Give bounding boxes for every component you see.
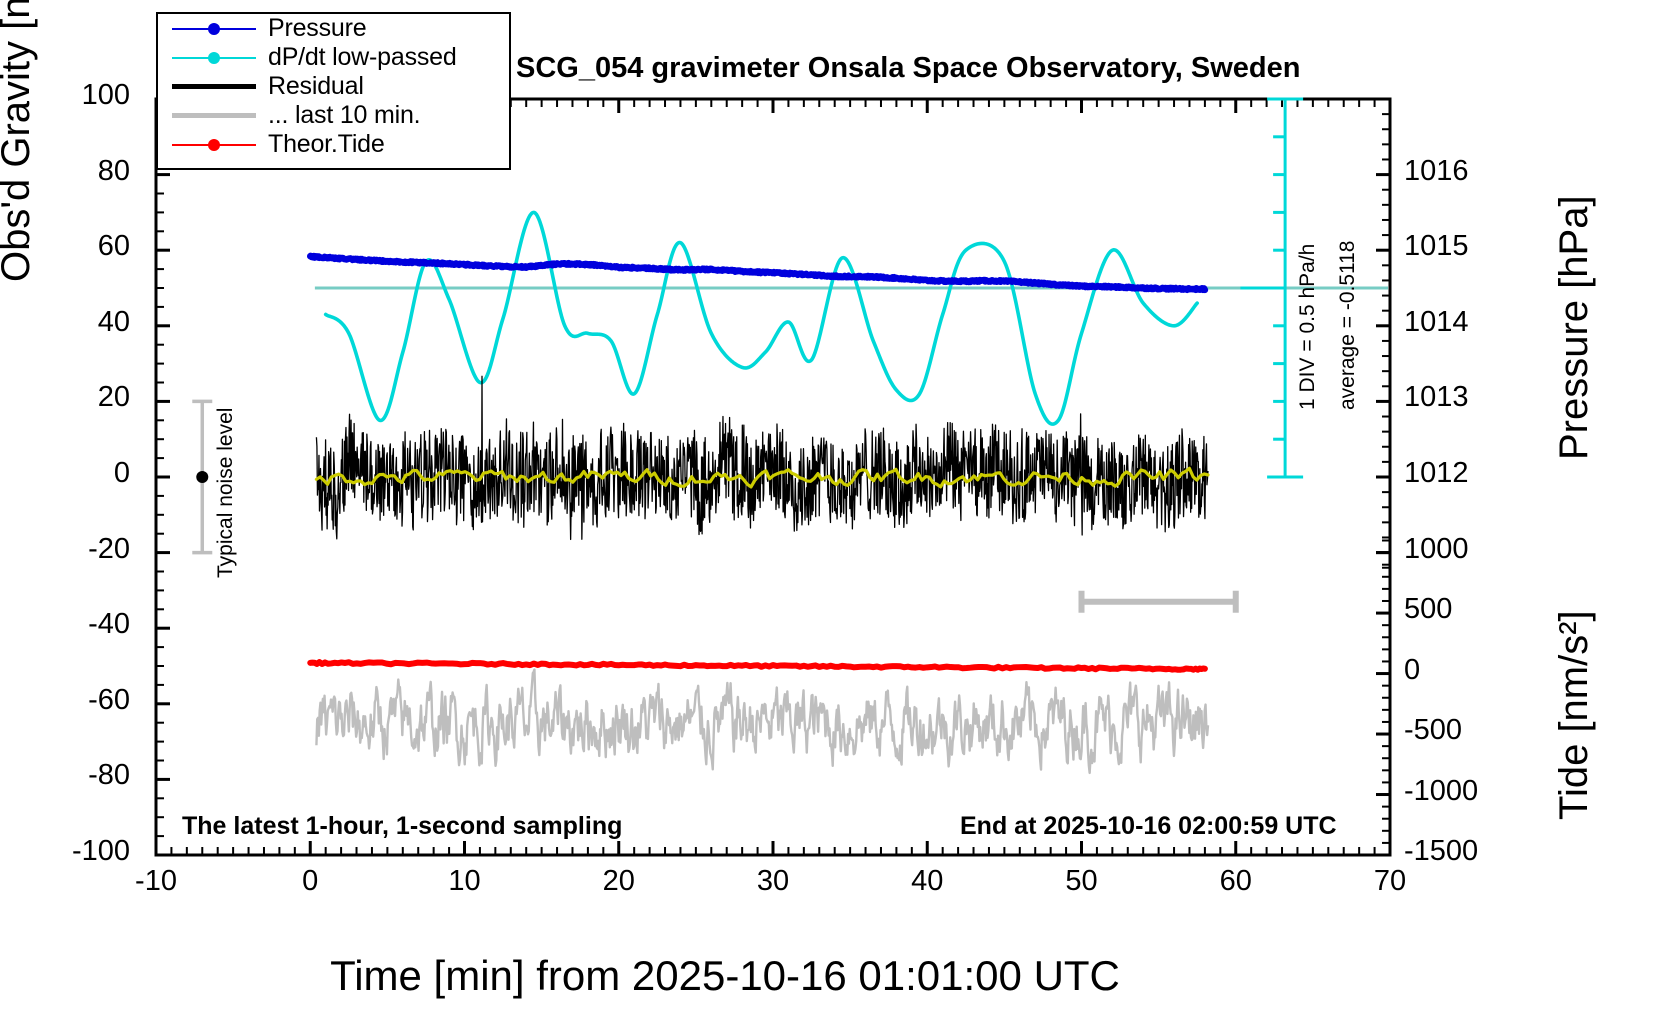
y-axis-right-pressure-tick-label: 1015: [1404, 230, 1469, 263]
y-axis-right-pressure-title: Pressure [hPa]: [1552, 195, 1597, 460]
dpdt-division-label: 1 DIV = 0.5 hPa/h: [1296, 244, 1320, 410]
y-axis-left-tick-label: 20: [20, 381, 130, 414]
legend-swatch-icon: [172, 48, 256, 68]
y-axis-left-tick-label: 100: [20, 79, 130, 112]
legend-swatch-icon: [172, 106, 256, 126]
residual-curve: [316, 376, 1208, 539]
x-axis-tick-label: 30: [733, 865, 813, 898]
y-axis-left-tick-label: 40: [20, 306, 130, 339]
x-axis-tick-label: 50: [1042, 865, 1122, 898]
legend-item-dp-dt-low-passed: dP/dt low-passed: [172, 43, 509, 72]
legend-swatch-icon: [172, 19, 256, 39]
legend-marker-icon: [208, 23, 220, 35]
y-axis-left-tick-label: -80: [20, 759, 130, 792]
y-axis-right-tide-tick-label: -1000: [1404, 775, 1478, 808]
legend-item-label: ... last 10 min.: [268, 101, 420, 130]
legend-marker-icon: [208, 52, 220, 64]
plot-root: SCG_054 gravimeter Onsala Space Observat…: [0, 0, 1660, 1020]
noise-center-dot: [196, 471, 208, 483]
x-axis-title: Time [min] from 2025-10-16 01:01:00 UTC: [0, 952, 1450, 1000]
y-axis-left-tick-label: 0: [20, 457, 130, 490]
y-axis-right-pressure-tick-label: 1014: [1404, 306, 1469, 339]
legend-line-icon: [172, 84, 256, 89]
theoretical-tide-curve: [310, 662, 1205, 670]
y-axis-left-tick-label: -60: [20, 684, 130, 717]
y-axis-left-tick-label: -40: [20, 608, 130, 641]
last10min-curve: [316, 670, 1208, 773]
footer-left-note: The latest 1-hour, 1-second sampling: [182, 812, 622, 841]
legend-item-label: Pressure: [268, 14, 366, 43]
legend-item-label: Residual: [268, 72, 364, 101]
y-axis-left-tick-label: 80: [20, 155, 130, 188]
legend-item-pressure: Pressure: [172, 14, 509, 43]
dpdt-average-label: average = -0.5118: [1336, 241, 1360, 411]
dpdt-lowpassed-curve: [326, 212, 1198, 424]
legend: PressuredP/dt low-passedResidual... last…: [156, 12, 511, 170]
x-axis-tick-label: -10: [116, 865, 196, 898]
y-axis-right-tide-tick-label: 500: [1404, 593, 1452, 626]
legend-item-last-10-min: ... last 10 min.: [172, 101, 509, 130]
footer-right-note: End at 2025-10-16 02:00:59 UTC: [960, 812, 1337, 841]
legend-swatch-icon: [172, 135, 256, 155]
legend-item-label: dP/dt low-passed: [268, 43, 457, 72]
x-axis-tick-label: 60: [1196, 865, 1276, 898]
y-axis-right-tide-tick-label: 0: [1404, 654, 1420, 687]
x-axis-tick-label: 10: [425, 865, 505, 898]
legend-item-label: Theor.Tide: [268, 130, 385, 159]
legend-swatch-icon: [172, 77, 256, 97]
noise-level-label: Typical noise level: [214, 408, 238, 578]
y-axis-right-tide-tick-label: -1500: [1404, 835, 1478, 868]
x-axis-tick-label: 0: [270, 865, 350, 898]
x-axis-tick-label: 20: [579, 865, 659, 898]
y-axis-right-pressure-tick-label: 1016: [1404, 155, 1469, 188]
y-axis-right-pressure-tick-label: 1012: [1404, 457, 1469, 490]
y-axis-left-tick-label: 60: [20, 230, 130, 263]
page-title: SCG_054 gravimeter Onsala Space Observat…: [516, 52, 1300, 85]
y-axis-right-tide-tick-label: 1000: [1404, 533, 1469, 566]
legend-marker-icon: [208, 139, 220, 151]
x-axis-tick-label: 40: [887, 865, 967, 898]
y-axis-right-tide-tick-label: -500: [1404, 714, 1462, 747]
y-axis-left-tick-label: -100: [20, 835, 130, 868]
y-axis-left-tick-label: -20: [20, 533, 130, 566]
x-axis-tick-label: 70: [1350, 865, 1430, 898]
y-axis-right-pressure-tick-label: 1013: [1404, 381, 1469, 414]
legend-item-theor-tide: Theor.Tide: [172, 130, 509, 159]
legend-item-residual: Residual: [172, 72, 509, 101]
legend-line-icon: [172, 113, 256, 118]
y-axis-right-tide-title: Tide [nm/s²]: [1552, 610, 1597, 820]
